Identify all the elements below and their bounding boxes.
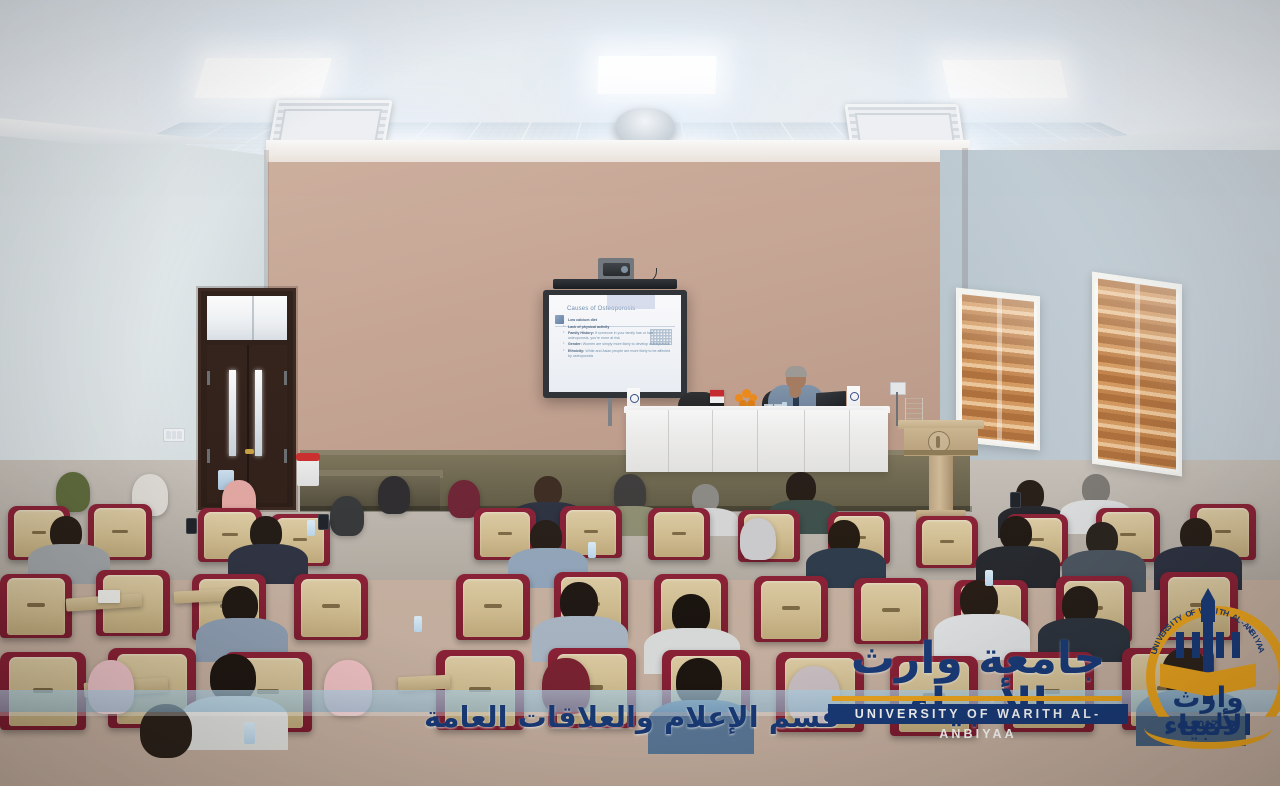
door-hinge [284,371,287,385]
door-hinge [207,449,210,463]
auditorium-seat[interactable] [648,508,710,560]
speaker-hair [785,366,807,377]
logo-geometric-motif [1176,632,1240,658]
university-name-english: UNIVERSITY OF WARITH AL-ANBIYAA [828,704,1128,724]
soundbar [553,279,677,289]
flag-seal [850,392,859,401]
mobile-phone[interactable] [318,514,329,530]
panel-light [597,56,716,94]
auditorium-seat[interactable] [294,574,368,640]
attendee-head [1000,516,1032,550]
water-bottle [307,520,315,536]
projector [603,263,630,276]
panel-light [194,58,332,98]
screen-stand-pole [608,398,612,426]
screen-display-surface: Causes of Osteoporosis Low calcium diet … [549,295,681,392]
bin-lid [296,453,320,461]
slide-bullet: Gender: Women are simply more likely to … [563,342,673,347]
door-transom-window [207,296,287,340]
slide-bullet-list: Low calcium diet Lack of physical activi… [563,318,673,358]
flag-seal [630,394,639,403]
water-bottle [414,616,422,632]
window-glare [1095,275,1179,473]
projection-screen: Causes of Osteoporosis Low calcium diet … [543,290,687,398]
auditorium-seat[interactable] [916,516,978,568]
university-watermark: جامعة وارث الأنبياء UNIVERSITY OF WARITH… [818,636,1138,746]
presentation-slide: Causes of Osteoporosis Low calcium diet … [549,295,681,392]
water-bottle [244,722,255,744]
logo-gold-swoosh [1144,706,1272,749]
window-right [1092,272,1182,477]
light-switch-panel[interactable] [163,428,185,442]
screen-glare [607,295,655,309]
mobile-phone[interactable] [186,518,197,534]
attendee-hijab [378,476,410,514]
slide-bullet: Family History: If someone in your famil… [563,331,673,340]
door-hinge [207,371,210,385]
notebook [98,590,120,603]
university-logo: UNIVERSITY OF WARITH AL-ANBIYAA وارث الأ… [1142,588,1274,748]
podium-trim-band [904,450,978,455]
head-table-cloth [626,410,888,472]
logo-pen-nib-icon [1201,588,1215,622]
projector-lens [621,266,628,273]
panel-light [942,60,1068,98]
water-bottle [985,570,993,586]
slide-bullet: Low calcium diet [563,318,673,323]
door-glass-pane [229,370,236,455]
department-watermark-text: قسم الإعلام والعلاقات العامة [420,700,840,734]
wall-mic-box [890,382,906,395]
seat-writing-tablet [398,675,451,692]
speaker-hand [789,384,801,398]
attendee-hijab [740,518,776,560]
door-hinge [284,449,287,463]
water-bottle [588,542,596,558]
attendee-hijab [330,496,364,536]
university-underline [832,696,1122,701]
slide-bullet: Lack of physical activity [563,325,673,330]
door-glass-pane [255,370,262,455]
auditorium-seat[interactable] [456,574,530,640]
photograph-scene: Causes of Osteoporosis Low calcium diet … [0,0,1280,786]
mobile-phone[interactable] [1010,492,1021,508]
front-cove [266,140,970,162]
auditorium-seat[interactable] [754,576,828,642]
slide-bullet: Ethnicity: White and Asian people are mo… [563,349,673,358]
door-handle[interactable] [245,449,254,454]
auditorium-seat[interactable] [0,574,72,638]
